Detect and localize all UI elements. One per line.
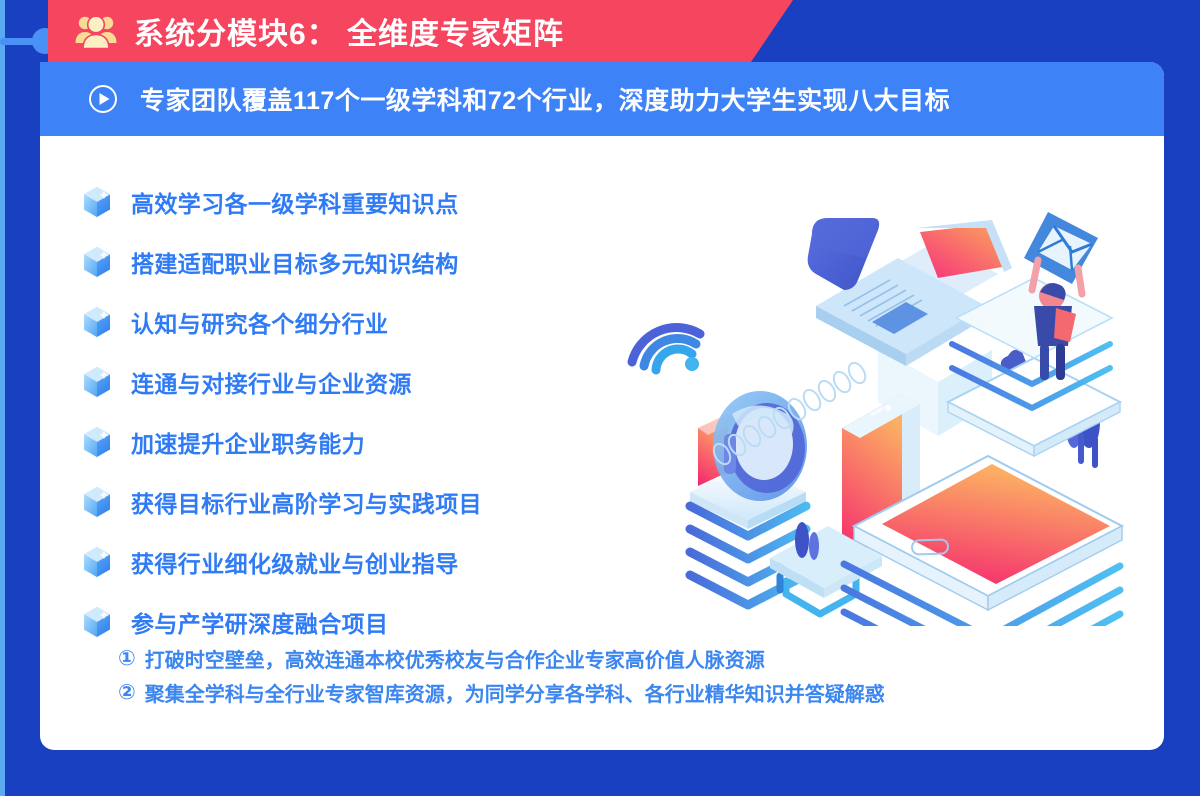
list-item-label: 参与产学研深度融合项目	[131, 605, 388, 639]
list-item-label: 认知与研究各个细分行业	[131, 305, 388, 339]
list-item[interactable]: 获得行业细化级就业与创业指导	[82, 532, 702, 592]
banner-title: 系统分模块6： 全维度专家矩阵	[134, 9, 564, 53]
footnote-marker: ②	[118, 680, 136, 705]
play-circle-icon	[88, 84, 118, 114]
list-item[interactable]: 认知与研究各个细分行业	[82, 292, 702, 352]
footnotes: ① 打破时空壁垒，高效连通本校优秀校友与合作企业专家高价值人脉资源 ② 聚集全学…	[118, 641, 1118, 709]
cube-icon	[82, 606, 112, 638]
cube-icon	[82, 486, 112, 518]
module-banner: 系统分模块6： 全维度专家矩阵	[48, 0, 793, 62]
list-item-label: 高效学习各一级学科重要知识点	[131, 185, 459, 219]
list-item-label: 连通与对接行业与企业资源	[131, 365, 412, 399]
footnote-row: ① 打破时空壁垒，高效连通本校优秀校友与合作企业专家高价值人脉资源	[118, 641, 1118, 675]
cube-icon	[82, 546, 112, 578]
list-item[interactable]: 连通与对接行业与企业资源	[82, 352, 702, 412]
list-item-label: 获得行业细化级就业与创业指导	[131, 545, 459, 579]
footnote-text: 打破时空壁垒，高效连通本校优秀校友与合作企业专家高价值人脉资源	[145, 644, 765, 673]
list-item[interactable]: 获得目标行业高阶学习与实践项目	[82, 472, 702, 532]
list-item-label: 搭建适配职业目标多元知识结构	[131, 245, 459, 279]
cube-icon	[82, 426, 112, 458]
footnote-marker: ①	[118, 646, 136, 671]
footnote-row: ② 聚集全学科与全行业专家智库资源，为同学分享各学科、各行业精华知识并答疑解惑	[118, 675, 1118, 709]
cube-icon	[82, 186, 112, 218]
subtitle-text: 专家团队覆盖117个一级学科和72个行业，深度助力大学生实现八大目标	[140, 81, 950, 117]
left-edge-strip	[0, 0, 5, 796]
subtitle-bar: 专家团队覆盖117个一级学科和72个行业，深度助力大学生实现八大目标	[40, 62, 1164, 136]
footnote-text: 聚集全学科与全行业专家智库资源，为同学分享各学科、各行业精华知识并答疑解惑	[145, 678, 885, 707]
benefits-list: 高效学习各一级学科重要知识点 搭建适配职业目标多元知识结构 认知与研究各个细分行…	[82, 172, 702, 652]
list-item[interactable]: 搭建适配职业目标多元知识结构	[82, 232, 702, 292]
list-item[interactable]: 高效学习各一级学科重要知识点	[82, 172, 702, 232]
list-item[interactable]: 加速提升企业职务能力	[82, 412, 702, 472]
cube-icon	[82, 366, 112, 398]
list-item-label: 获得目标行业高阶学习与实践项目	[131, 485, 482, 519]
cube-icon	[82, 246, 112, 278]
users-group-icon	[74, 12, 118, 50]
list-item-label: 加速提升企业职务能力	[131, 425, 365, 459]
cube-icon	[82, 306, 112, 338]
